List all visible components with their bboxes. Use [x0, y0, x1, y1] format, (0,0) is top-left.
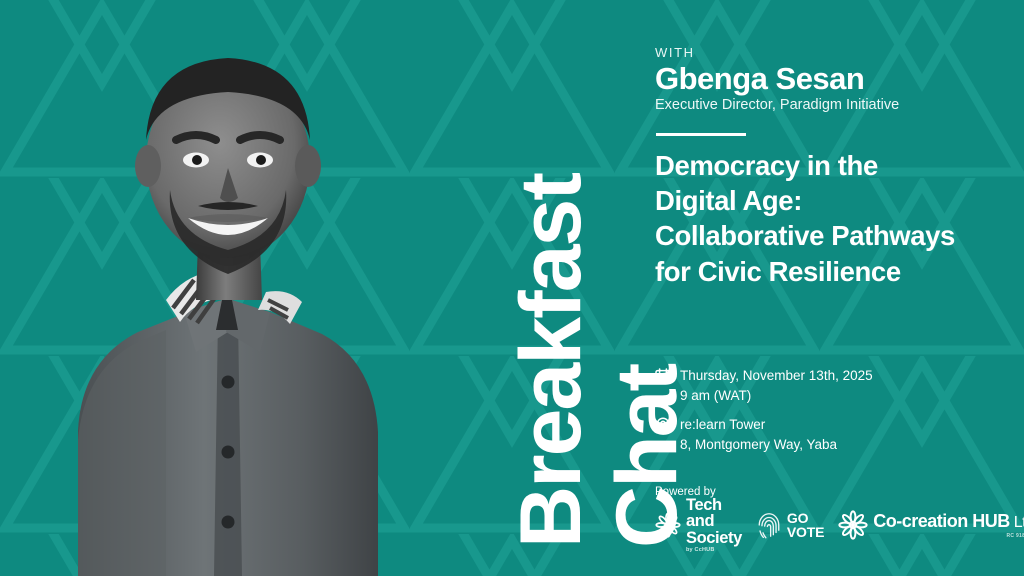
divider-rule — [656, 133, 746, 136]
location-pin-icon — [655, 417, 671, 433]
event-venue-row: re:learn Tower 8, Montgomery Way, Yaba — [655, 415, 837, 454]
sponsor-govote-line2: VOTE — [787, 525, 824, 539]
sponsor-cchub-name: Co-creation HUB — [873, 511, 1010, 531]
sponsor-tas-line2: Society — [686, 530, 742, 547]
speaker-portrait — [0, 0, 440, 576]
event-info-column: WITH Gbenga Sesan Executive Director, Pa… — [655, 0, 1005, 576]
sponsor-cchub-registration: RC 918335 — [873, 533, 1024, 539]
speaker-name: Gbenga Sesan — [655, 62, 864, 96]
event-flyer: Breakfast Chat — [0, 0, 1024, 576]
sponsor-tech-and-society: Tech and Society by CcHUB — [655, 497, 742, 554]
flower-icon — [838, 510, 868, 540]
event-venue-line2: 8, Montgomery Way, Yaba — [680, 435, 837, 455]
calendar-icon — [655, 368, 671, 384]
fingerprint-icon — [756, 510, 782, 540]
sponsor-tas-tagline: by CcHUB — [686, 548, 742, 554]
talk-title: Democracy in the Digital Age: Collaborat… — [655, 148, 955, 289]
event-date-line2: 9 am (WAT) — [680, 386, 873, 406]
sponsor-cchub-suffix: Ltd — [1010, 514, 1024, 531]
wordmark-line-breakfast: Breakfast — [508, 174, 594, 548]
sponsor-govote-line1: GO — [787, 511, 824, 525]
sponsor-tas-line1: Tech and — [686, 497, 742, 530]
sponsor-cchub: Co-creation HUB Ltd RC 918335 — [838, 510, 1024, 540]
event-date-row: Thursday, November 13th, 2025 9 am (WAT) — [655, 366, 873, 405]
speaker-role: Executive Director, Paradigm Initiative — [655, 97, 899, 113]
event-date-line1: Thursday, November 13th, 2025 — [680, 366, 873, 386]
sponsor-go-vote: GO VOTE — [756, 510, 824, 540]
event-venue-line1: re:learn Tower — [680, 415, 837, 435]
sponsor-logo-row: Tech and Society by CcHUB — [655, 503, 1024, 547]
with-label: WITH — [655, 45, 695, 60]
flower-icon — [655, 512, 681, 538]
